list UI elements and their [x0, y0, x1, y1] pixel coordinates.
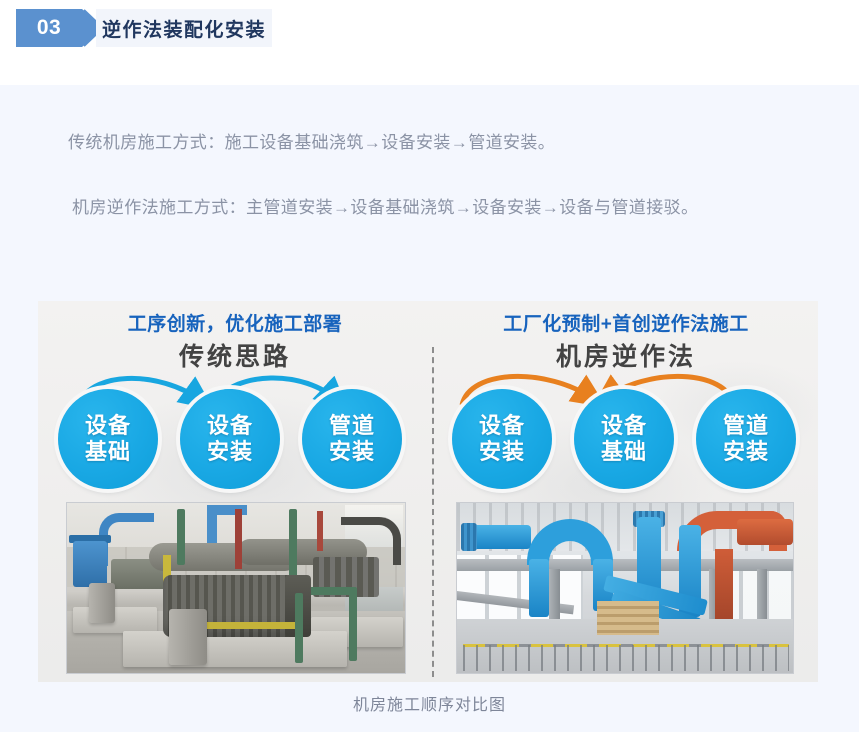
photo-orange-pipe-riser: [715, 549, 733, 623]
right-step-1-line1: 设备: [479, 413, 525, 439]
right-step-3: 管道 安装: [696, 389, 796, 489]
right-step-3-line1: 管道: [723, 413, 769, 439]
right-step-3-line2: 安装: [723, 439, 769, 465]
photo-blue-pipe-drop-1: [529, 559, 549, 617]
photo-red-pipe: [235, 509, 242, 569]
photo-yellow-pipe-2: [205, 622, 301, 629]
right-step-1-line2: 安装: [479, 439, 525, 465]
paragraph-reverse-method: 机房逆作法施工方式：主管道安装→设备基础浇筑→设备安装→设备与管道接驳。: [38, 190, 830, 226]
photo-concrete-pad-1: [73, 607, 157, 633]
comparison-diagram: 工序创新，优化施工部署 传统思路 设备 基础 设备 安装: [38, 301, 818, 682]
page-title: 逆作法装配化安装: [102, 15, 266, 42]
photo-timber-pallet: [597, 601, 659, 635]
paragraph-traditional: 传统机房施工方式：施工设备基础浇筑→设备安装→管道安装。: [68, 125, 828, 161]
photo-green-pipe-1: [177, 509, 185, 565]
left-step-2-line1: 设备: [207, 413, 253, 439]
left-step-3-line1: 管道: [329, 413, 375, 439]
photo-blue-pipe-flange: [461, 523, 477, 551]
section-number: 03: [16, 9, 82, 47]
right-step-2-line2: 基础: [601, 439, 647, 465]
left-step-2: 设备 安装: [180, 389, 280, 489]
right-photo-image: [457, 503, 793, 673]
right-step-2: 设备 基础: [574, 389, 674, 489]
photo-blue-tank: [73, 541, 107, 587]
right-photo: [456, 502, 794, 674]
photo-dark-pipe: [341, 517, 401, 565]
left-step-1-line2: 基础: [85, 439, 131, 465]
photo-orange-pipe-horizontal: [737, 519, 793, 545]
photo-red-pipe-2: [317, 511, 323, 551]
left-headline: 工序创新，优化施工部署: [38, 309, 432, 336]
photo-cylinder-1: [89, 583, 115, 623]
section-number-badge: 03: [16, 9, 104, 47]
photo-green-pipe-5: [349, 587, 357, 661]
left-step-2-line2: 安装: [207, 439, 253, 465]
photo-cylinder-2: [169, 609, 207, 665]
diagram-right-half: 工厂化预制+首创逆作法施工 机房逆作法 设备 安装 设备 基础: [434, 301, 818, 682]
photo-safety-fence: [463, 645, 789, 671]
left-photo: [66, 502, 406, 674]
diagram-left-half: 工序创新，优化施工部署 传统思路 设备 基础 设备 安装: [38, 301, 432, 682]
photo-steel-beam: [457, 559, 793, 571]
figure-caption: 机房施工顺序对比图: [0, 691, 859, 715]
photo-green-pipe-3: [295, 593, 303, 663]
content-area: 传统机房施工方式：施工设备基础浇筑→设备安装→管道安装。 机房逆作法施工方式：主…: [0, 85, 859, 732]
left-step-3: 管道 安装: [302, 389, 402, 489]
left-photo-image: [67, 503, 405, 673]
left-step-1: 设备 基础: [58, 389, 158, 489]
left-step-3-line2: 安装: [329, 439, 375, 465]
page-header: 03 逆作法装配化安装: [0, 0, 859, 58]
right-step-circles: 设备 安装 设备 基础 管道 安装: [434, 389, 818, 493]
right-step-1: 设备 安装: [452, 389, 552, 489]
page-title-container: 逆作法装配化安装: [96, 9, 272, 47]
left-step-circles: 设备 基础 设备 安装 管道 安装: [38, 389, 432, 493]
right-step-2-line1: 设备: [601, 413, 647, 439]
right-headline: 工厂化预制+首创逆作法施工: [434, 309, 818, 336]
photo-green-pipe-2: [289, 509, 297, 579]
left-step-1-line1: 设备: [85, 413, 131, 439]
